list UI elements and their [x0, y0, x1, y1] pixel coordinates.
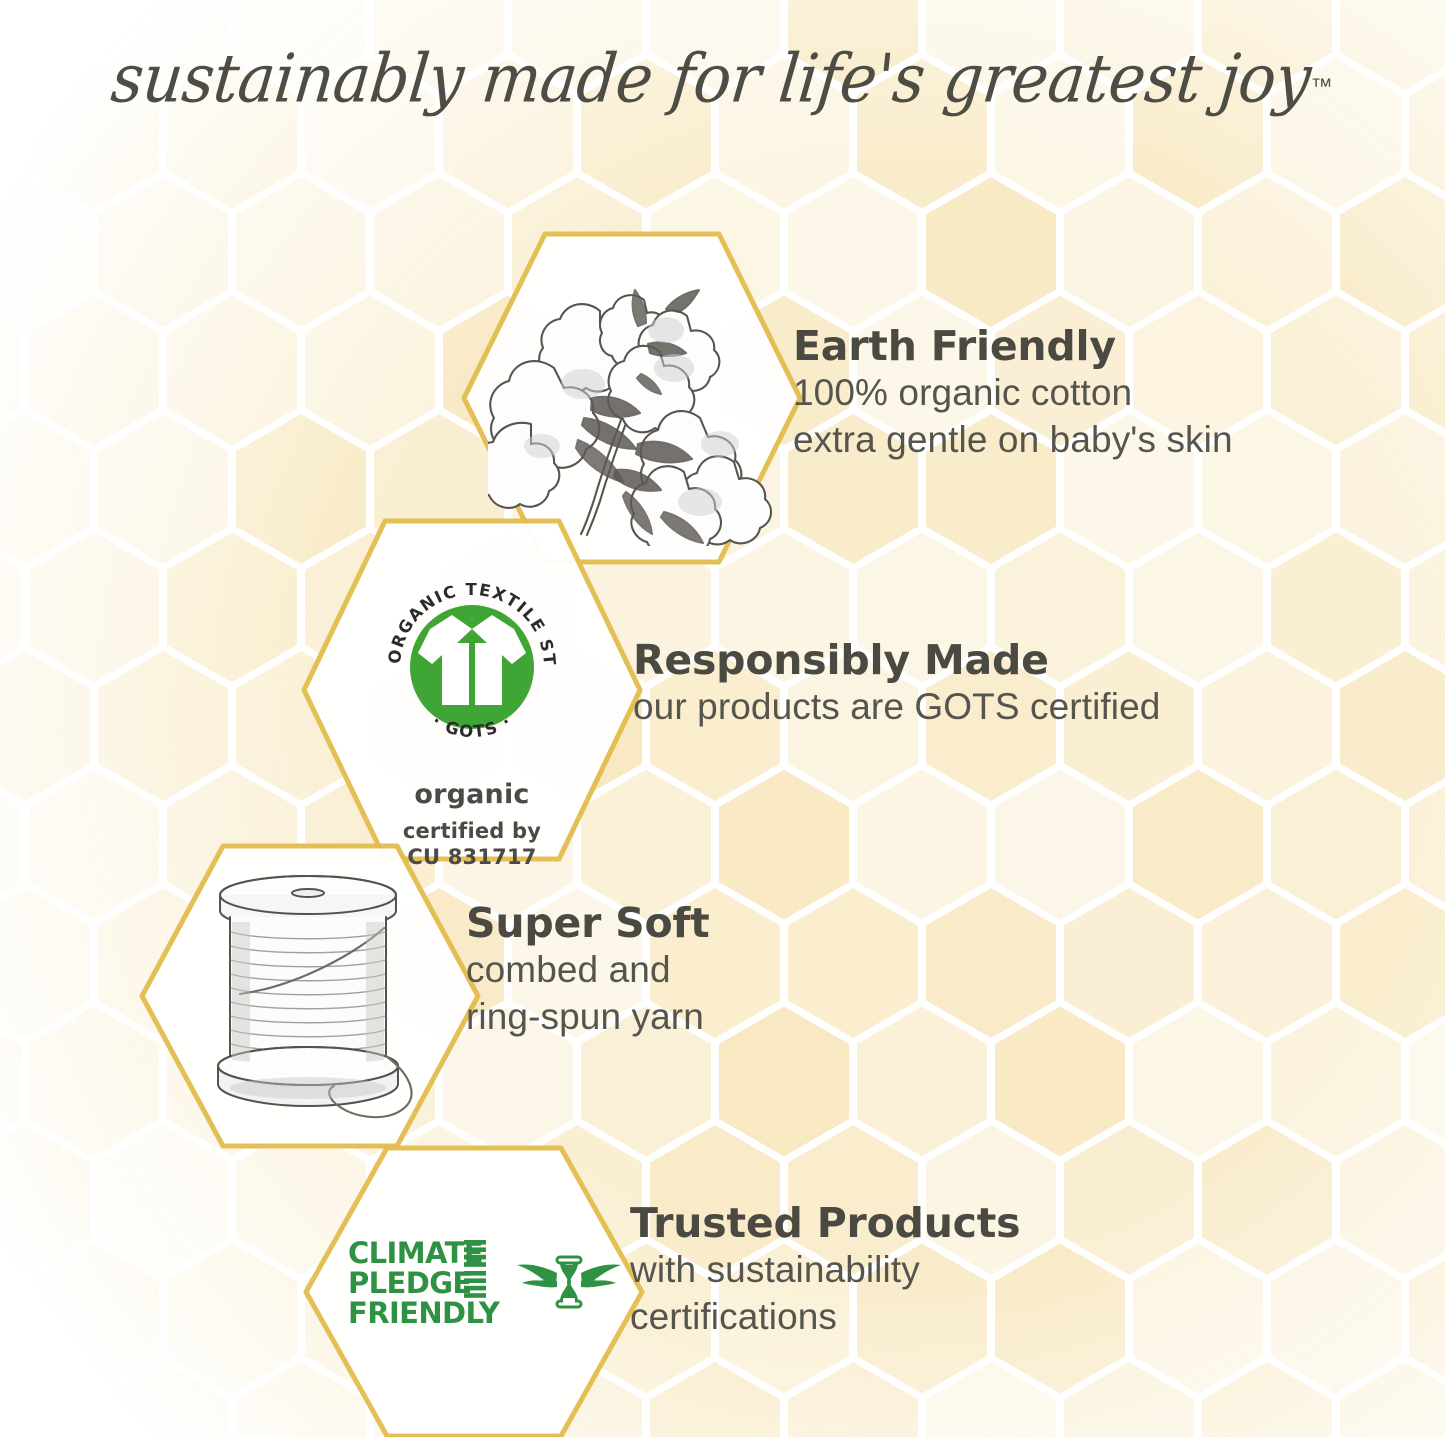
feature-line-1: combed and [466, 947, 710, 994]
feature-title: Super Soft [466, 900, 710, 947]
winged-hourglass-icon [515, 1243, 623, 1323]
trusted-products-text: Trusted Products with sustainability cer… [630, 1200, 1020, 1341]
feature-responsibly-made: GLOBAL ORGANIC TEXTILE STANDARD · GOTS ·… [298, 515, 1338, 865]
super-soft-text: Super Soft combed and ring-spun yarn [466, 900, 710, 1041]
earth-friendly-text: Earth Friendly 100% organic cotton extra… [793, 323, 1233, 464]
feature-title: Earth Friendly [793, 323, 1233, 370]
feature-title: Trusted Products [630, 1200, 1020, 1247]
gots-certification-logo: GLOBAL ORGANIC TEXTILE STANDARD · GOTS ·… [342, 569, 602, 870]
feature-title: Responsibly Made [633, 637, 1160, 684]
feature-line-2: extra gentle on baby's skin [793, 417, 1233, 464]
feature-super-soft: Super Soft combed and ring-spun yarn [136, 840, 1116, 1150]
infographic-canvas: sustainably made for life's greatest joy… [0, 0, 1445, 1437]
gots-organic-label: organic [342, 779, 602, 810]
cotton-branch-illustration [488, 256, 778, 546]
feature-line-1: with sustainability [630, 1247, 1020, 1294]
thread-spool-illustration [188, 860, 438, 1130]
feature-line-2: certifications [630, 1294, 1020, 1341]
responsibly-made-text: Responsibly Made our products are GOTS c… [633, 637, 1160, 731]
feature-trusted-products: CLIMATE PLEDGE FRIENDLY [300, 1142, 1300, 1437]
climate-pledge-friendly-logo: CLIMATE PLEDGE FRIENDLY [348, 1238, 623, 1328]
feature-line-1: 100% organic cotton [793, 370, 1233, 417]
feature-line-1: our products are GOTS certified [633, 684, 1160, 731]
feature-line-2: ring-spun yarn [466, 994, 710, 1041]
gots-seal-icon: GLOBAL ORGANIC TEXTILE STANDARD · GOTS · [374, 569, 570, 765]
climate-pledge-wordmark: CLIMATE PLEDGE FRIENDLY [348, 1238, 499, 1328]
